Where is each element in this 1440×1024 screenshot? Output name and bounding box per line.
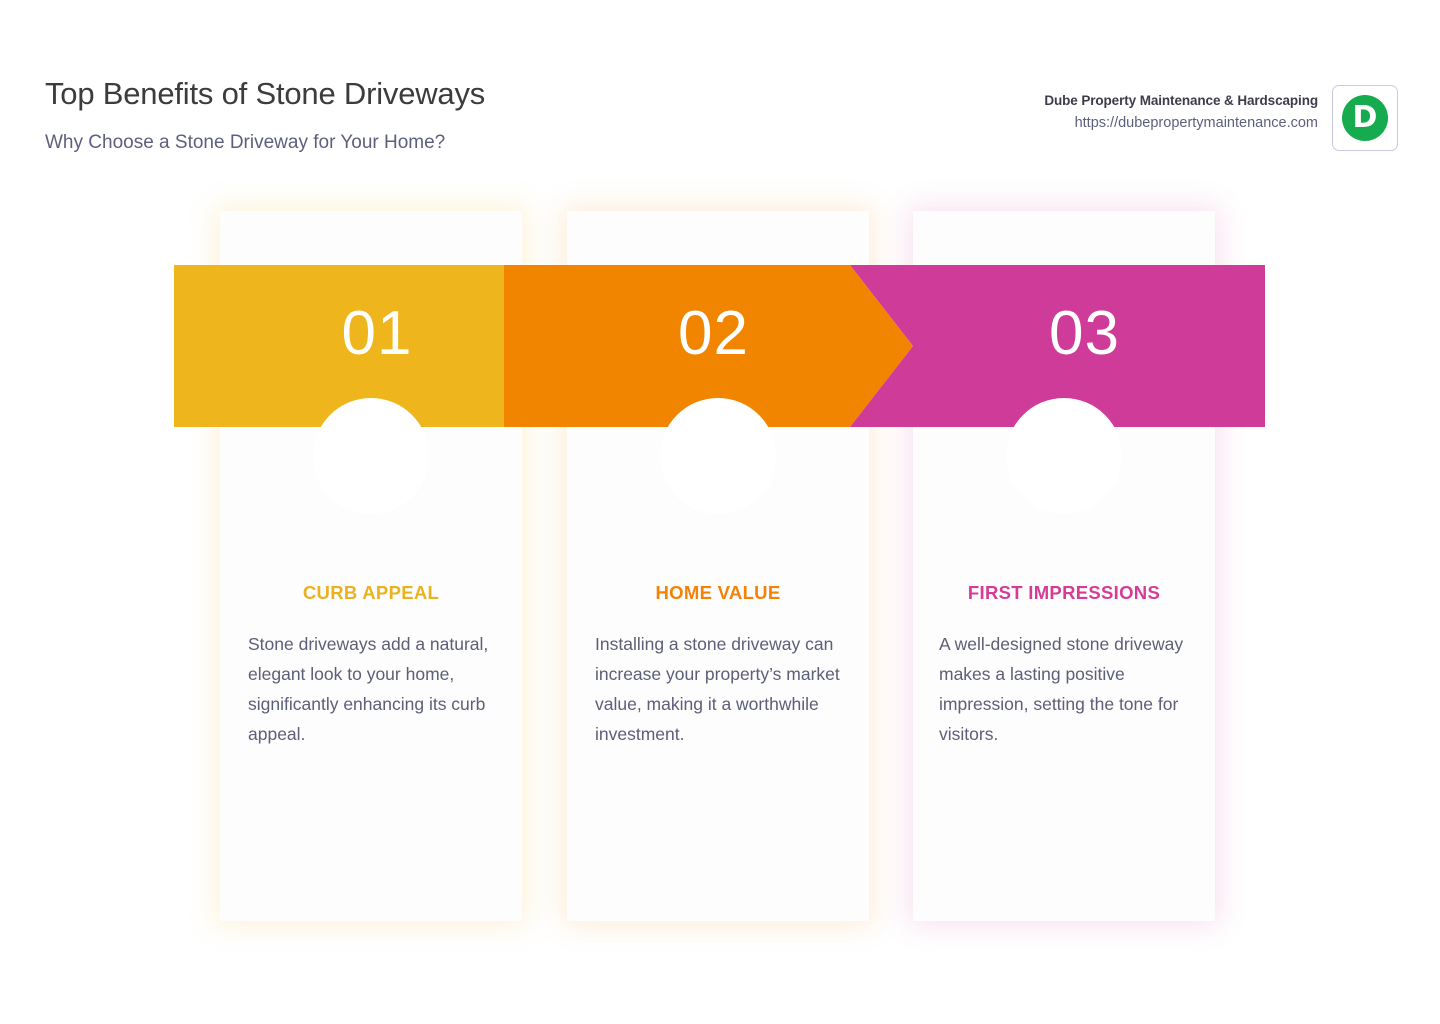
benefit-label: HOME VALUE	[567, 582, 869, 604]
banner-notch-2	[660, 398, 776, 514]
benefit-description: A well-designed stone driveway makes a l…	[939, 629, 1201, 749]
benefit-description: Installing a stone driveway can increase…	[595, 629, 847, 749]
banner-notch-1	[313, 398, 429, 514]
step-number: 02	[504, 303, 913, 365]
step-number: 03	[850, 303, 1265, 365]
banner-notch-3	[1006, 398, 1122, 514]
benefit-label: FIRST IMPRESSIONS	[913, 582, 1215, 604]
benefit-label: CURB APPEAL	[220, 582, 522, 604]
benefit-description: Stone driveways add a natural, elegant l…	[248, 629, 500, 749]
